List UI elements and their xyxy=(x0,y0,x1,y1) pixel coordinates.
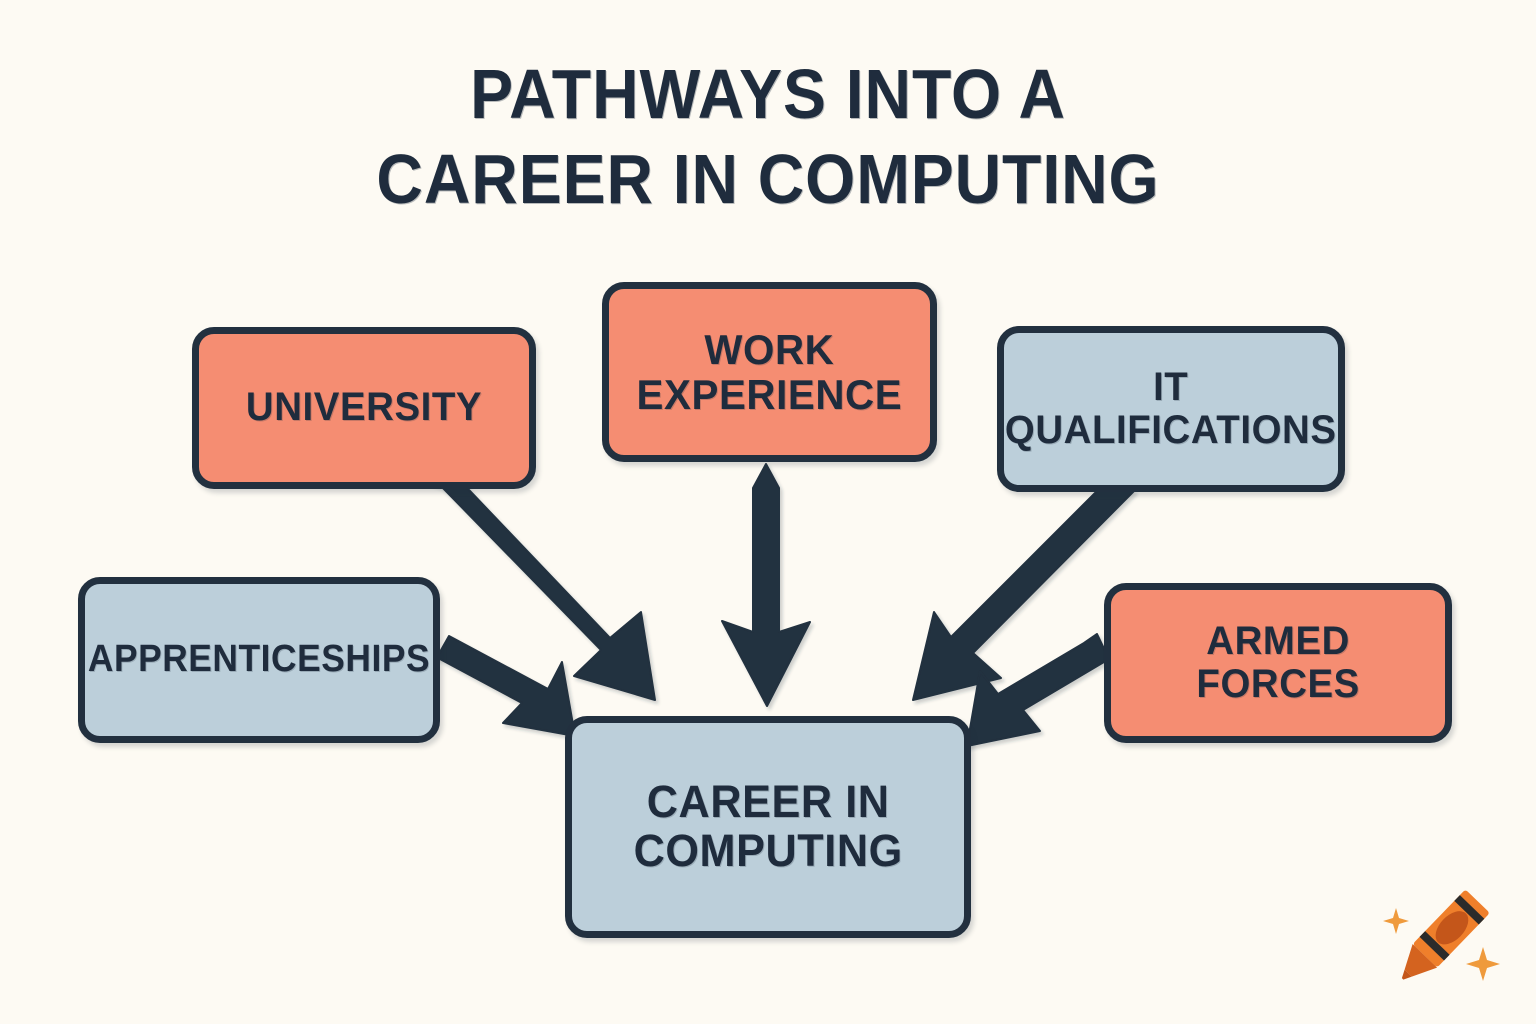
node-career-in-computing[interactable]: CAREER IN COMPUTING xyxy=(565,716,971,938)
node-armed-forces-label: ARMED FORCES xyxy=(1196,620,1359,706)
node-work-experience-label: WORK EXPERIENCE xyxy=(637,327,903,418)
edge-armed-to-career xyxy=(967,634,1109,746)
crayon-icon xyxy=(1380,870,1510,1000)
node-work-experience[interactable]: WORK EXPERIENCE xyxy=(602,282,937,462)
node-apprenticeships-label: APPRENTICESHIPS xyxy=(88,639,430,680)
sparkle-icon xyxy=(1383,908,1409,934)
diagram-canvas: PATHWAYS INTO A CAREER IN COMPUTING UNIV… xyxy=(0,0,1536,1024)
edge-it-to-career xyxy=(913,476,1134,700)
edge-work-to-career xyxy=(722,464,810,706)
node-apprenticeships[interactable]: APPRENTICESHIPS xyxy=(78,577,440,743)
edge-apprentice-to-career xyxy=(425,636,575,736)
node-career-in-computing-label: CAREER IN COMPUTING xyxy=(633,778,902,875)
sparkle-icon xyxy=(1466,947,1500,981)
node-university[interactable]: UNIVERSITY xyxy=(192,327,536,489)
node-armed-forces[interactable]: ARMED FORCES xyxy=(1104,583,1452,743)
node-university-label: UNIVERSITY xyxy=(246,386,482,429)
node-it-qualifications-label: IT QUALIFICATIONS xyxy=(1005,366,1337,452)
node-it-qualifications[interactable]: IT QUALIFICATIONS xyxy=(997,326,1345,492)
